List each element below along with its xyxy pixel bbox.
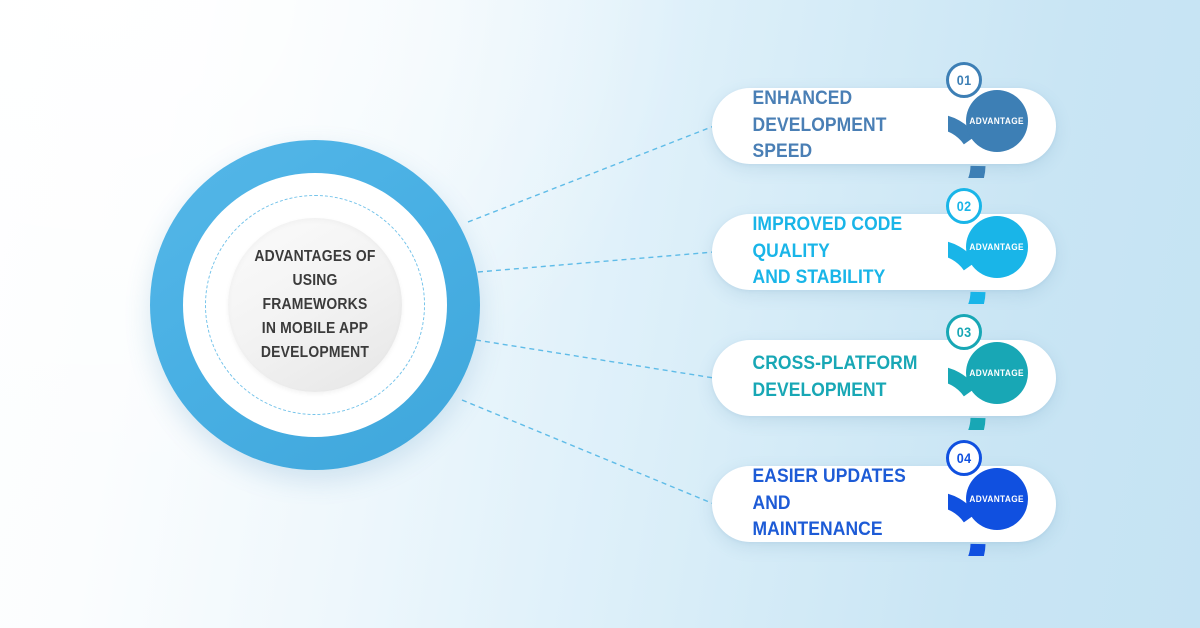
- badge-caption-4: ADVANTAGE: [970, 494, 1025, 504]
- badge-number-bubble-3: 03: [946, 314, 982, 350]
- badge-number-bubble-4: 04: [946, 440, 982, 476]
- advantage-badge-3[interactable]: ADVANTAGE 03: [948, 326, 1052, 430]
- badge-core-3: ADVANTAGE: [966, 342, 1028, 404]
- advantage-badge-1[interactable]: ADVANTAGE 01: [948, 74, 1052, 178]
- infographic-canvas: ADVANTAGES OF USING FRAMEWORKS IN MOBILE…: [0, 0, 1200, 628]
- advantage-badge-4[interactable]: ADVANTAGE 04: [948, 452, 1052, 556]
- badge-number-4: 04: [957, 450, 972, 466]
- connector-line-4: [462, 400, 714, 504]
- center-emblem: ADVANTAGES OF USING FRAMEWORKS IN MOBILE…: [150, 140, 480, 470]
- page-title: ADVANTAGES OF USING FRAMEWORKS IN MOBILE…: [243, 245, 387, 365]
- connector-line-2: [478, 252, 714, 272]
- badge-number-bubble-2: 02: [946, 188, 982, 224]
- connector-line-3: [476, 340, 714, 378]
- badge-core-4: ADVANTAGE: [966, 468, 1028, 530]
- inner-disc: ADVANTAGES OF USING FRAMEWORKS IN MOBILE…: [228, 218, 402, 392]
- badge-core-1: ADVANTAGE: [966, 90, 1028, 152]
- advantage-badge-2[interactable]: ADVANTAGE 02: [948, 200, 1052, 304]
- connector-line-1: [468, 126, 714, 222]
- badge-number-bubble-1: 01: [946, 62, 982, 98]
- badge-caption-2: ADVANTAGE: [970, 242, 1025, 252]
- badge-core-2: ADVANTAGE: [966, 216, 1028, 278]
- badge-caption-3: ADVANTAGE: [970, 368, 1025, 378]
- badge-caption-1: ADVANTAGE: [970, 116, 1025, 126]
- badge-number-3: 03: [957, 324, 972, 340]
- badge-number-2: 02: [957, 198, 972, 214]
- badge-number-1: 01: [957, 72, 972, 88]
